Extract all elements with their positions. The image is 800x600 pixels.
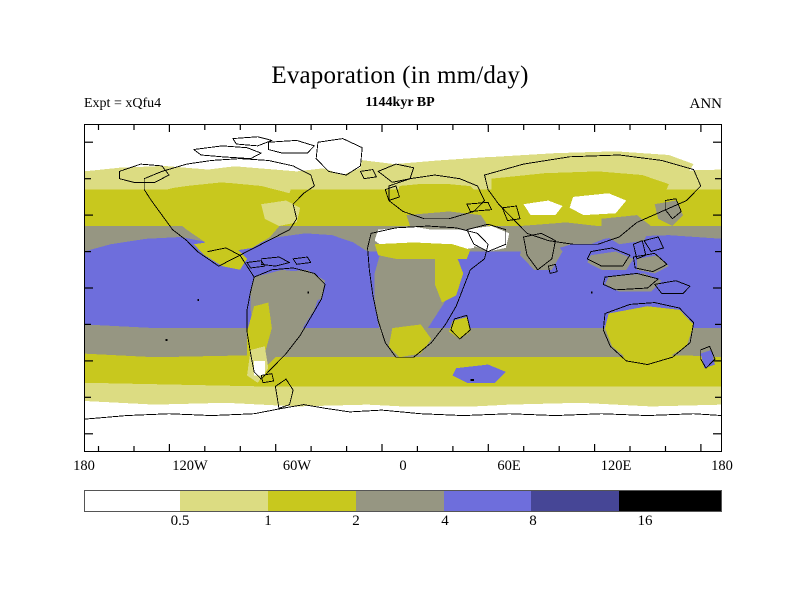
colorbar-tick-2: 2	[352, 513, 360, 530]
xtick-label-180w: 180	[73, 458, 95, 475]
xtick-label-60e: 60E	[497, 458, 520, 475]
season-label: ANN	[690, 96, 723, 113]
colorbar-band-3	[356, 491, 444, 511]
colorbar-band-2	[268, 491, 356, 511]
colorbar-tick-16: 16	[638, 513, 653, 530]
experiment-label: Expt = xQfu4	[84, 96, 161, 112]
xtick-label-0: 0	[399, 458, 406, 475]
xtick-label-60w: 60W	[283, 458, 311, 475]
colorbar-band-1	[180, 491, 268, 511]
colorbar-band-4	[444, 491, 532, 511]
map-plot-area	[84, 124, 722, 452]
colorbar-band-0	[85, 491, 180, 511]
colorbar-band-5	[531, 491, 619, 511]
colorbar-tick-8: 8	[529, 513, 537, 530]
xtick-label-120w: 120W	[172, 458, 207, 475]
xtick-label-120e: 120E	[601, 458, 632, 475]
evaporation-map-svg	[84, 124, 722, 452]
colorbar-tick-0.5: 0.5	[171, 513, 190, 530]
colorbar	[84, 490, 722, 512]
colorbar-tick-4: 4	[441, 513, 449, 530]
xtick-label-180e: 180	[711, 458, 733, 475]
colorbar-tick-1: 1	[264, 513, 272, 530]
colorbar-band-6	[619, 491, 721, 511]
page-title: Evaporation (in mm/day)	[0, 62, 800, 90]
evaporation-map-figure: Evaporation (in mm/day) 1144kyr BP Expt …	[0, 0, 800, 600]
